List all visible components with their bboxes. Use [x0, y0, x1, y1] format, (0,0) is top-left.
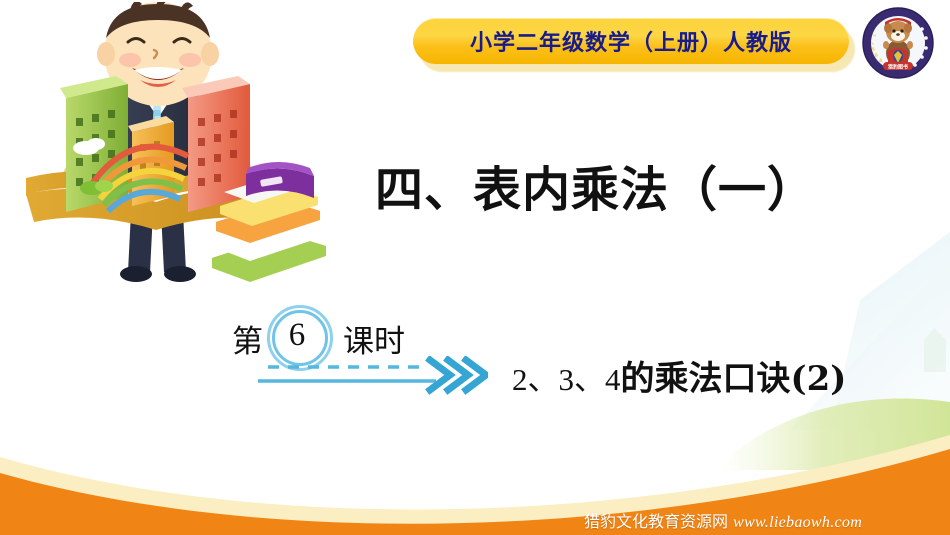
lesson-suffix-label: 课时	[343, 316, 405, 361]
page-title: 四、表内乘法（一）	[375, 150, 816, 220]
header-banner: 小学二年级数学（上册）人教版	[413, 18, 855, 70]
banner-label: 小学二年级数学（上册）人教版	[470, 25, 792, 57]
lesson-prefix-label: 第	[232, 316, 263, 361]
slide-canvas: 小学二年级数学（上册）人教版 L I E B A O	[0, 0, 950, 535]
footer-watermark: 猎豹文化教育资源网 www.liebaowh.com	[584, 508, 862, 532]
subtitle-text: 的乘法口诀(2)	[621, 359, 847, 399]
banner-pill: 小学二年级数学（上册）人教版	[413, 18, 849, 64]
footer-url: www.liebaowh.com	[733, 514, 862, 531]
liebao-tushu-badge-icon: L I E B A O 猎豹图书	[862, 7, 934, 79]
footer-site-name: 猎豹文化教育资源网	[584, 512, 728, 531]
svg-text:A: A	[879, 58, 883, 64]
lesson-subtitle: 2、3、4的乘法口诀(2)	[512, 351, 846, 400]
boy-with-popup-book-illustration	[14, 2, 332, 287]
svg-text:猎豹图书: 猎豹图书	[888, 64, 908, 71]
dashed-arrow-icon	[258, 356, 488, 396]
subtitle-numbers: 2、3、4	[512, 362, 621, 397]
